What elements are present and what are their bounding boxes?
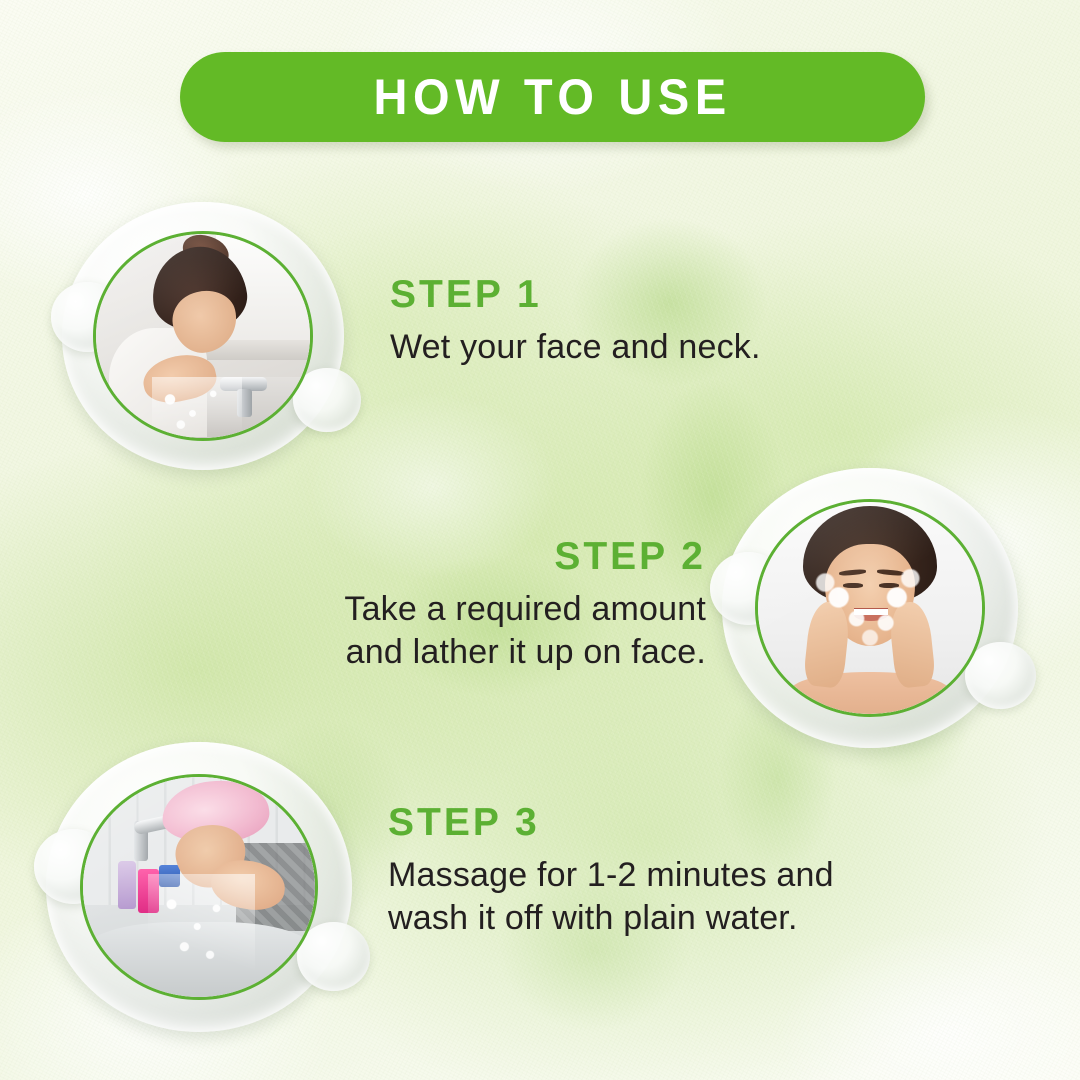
page-title: HOW TO USE [373,68,731,126]
step-1-green-ring [93,231,313,440]
step-3-label: STEP 3 [388,803,888,844]
how-to-use-poster: HOW TO USE [0,0,1080,1080]
step-3-green-ring [80,774,319,1000]
step-2-label: STEP 2 [240,537,706,578]
step-2-photo [758,502,983,714]
step-3-image-bubble [46,742,352,1032]
step-2-text-block: STEP 2 Take a required amount and lather… [240,537,706,675]
header-banner: HOW TO USE [180,52,925,142]
step-2-image-bubble [722,468,1018,748]
step-2-description: Take a required amount and lather it up … [240,588,706,675]
step-1-text-block: STEP 1 Wet your face and neck. [390,275,870,369]
step-1-image-bubble [62,202,344,470]
step-3-description: Massage for 1-2 minutes and wash it off … [388,854,888,941]
step-1-description: Wet your face and neck. [390,326,870,370]
step-3-text-block: STEP 3 Massage for 1-2 minutes and wash … [388,803,888,941]
step-1-label: STEP 1 [390,275,870,316]
step-3-photo [83,777,316,997]
step-1-photo [96,234,310,437]
step-2-green-ring [755,499,986,717]
